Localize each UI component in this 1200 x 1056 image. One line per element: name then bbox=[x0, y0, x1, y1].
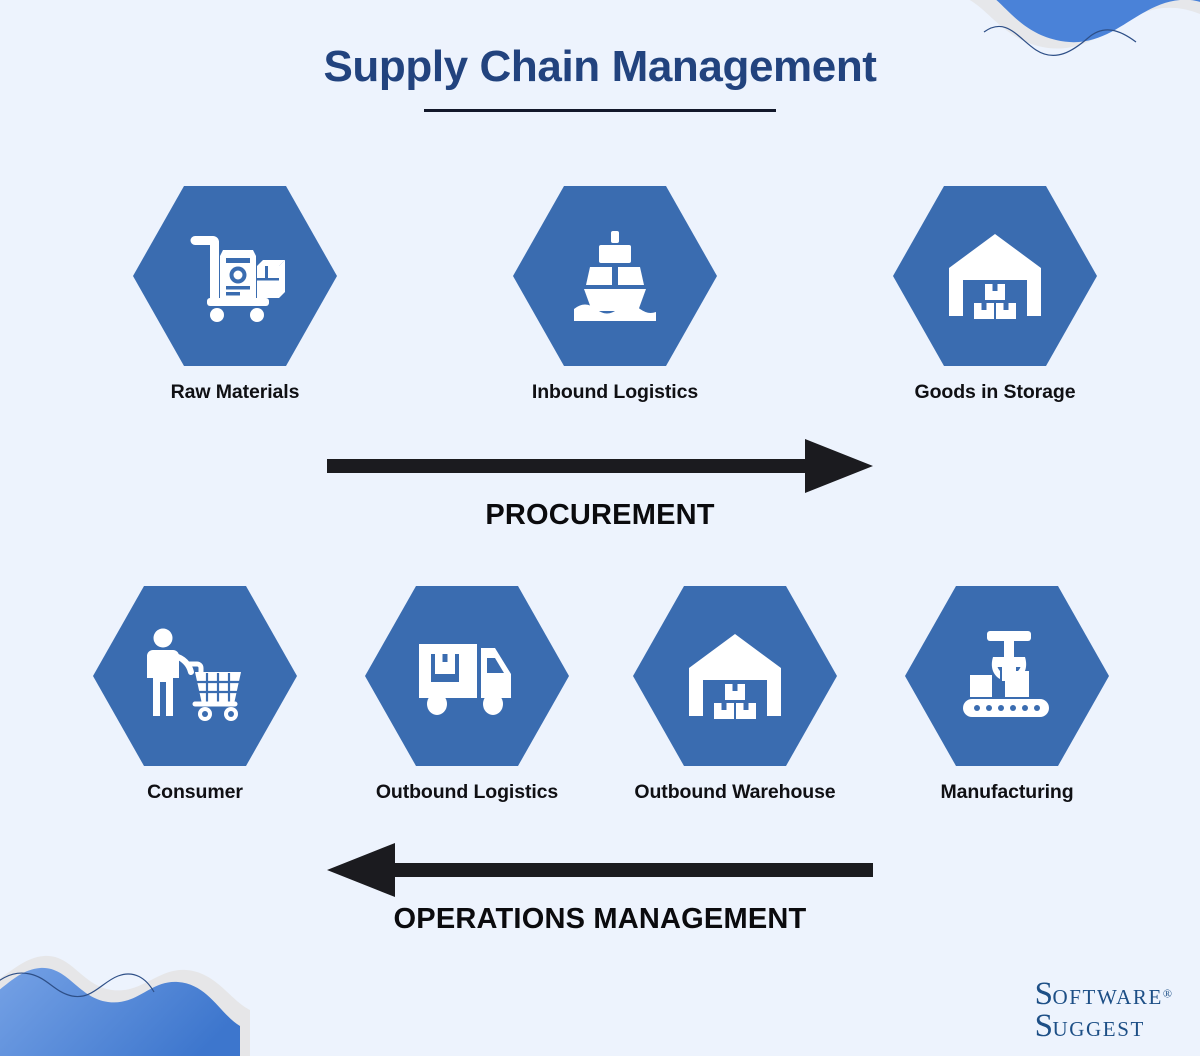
node-label: Consumer bbox=[93, 781, 297, 804]
infographic-canvas: Supply Chain Management bbox=[0, 0, 1200, 1056]
cargo-ship-icon bbox=[560, 221, 670, 331]
node-label: Outbound Logistics bbox=[365, 781, 569, 804]
logo-word-software: OFTWARE bbox=[1053, 985, 1163, 1009]
hexagon-goods-in-storage[interactable] bbox=[893, 186, 1097, 366]
node-label: Inbound Logistics bbox=[513, 381, 717, 404]
logo-line-2: SUGGEST bbox=[1035, 1011, 1172, 1042]
node-label: Manufacturing bbox=[905, 781, 1109, 804]
shopper-with-cart-icon bbox=[139, 620, 251, 732]
hexagon-outbound-logistics[interactable] bbox=[365, 586, 569, 766]
node-inbound-logistics[interactable]: Inbound Logistics bbox=[513, 186, 717, 404]
arrow-left-icon bbox=[327, 841, 873, 899]
header: Supply Chain Management bbox=[0, 42, 1200, 112]
node-outbound-logistics[interactable]: Outbound Logistics bbox=[365, 586, 569, 804]
logo-cap-s-2: S bbox=[1035, 1008, 1053, 1044]
registered-mark-icon: ® bbox=[1163, 987, 1172, 1001]
hexagon-raw-materials[interactable] bbox=[133, 186, 337, 366]
node-label: Goods in Storage bbox=[893, 381, 1097, 404]
node-label: Raw Materials bbox=[133, 381, 337, 404]
node-raw-materials[interactable]: Raw Materials bbox=[133, 186, 337, 404]
bottom-left-wave-decoration bbox=[0, 930, 290, 1056]
logo-line-1: SOFTWARE® bbox=[1035, 979, 1172, 1010]
hexagon-outbound-warehouse[interactable] bbox=[633, 586, 837, 766]
softwaresuggest-logo[interactable]: SOFTWARE® SUGGEST bbox=[1035, 979, 1172, 1042]
flow-label: OPERATIONS MANAGEMENT bbox=[0, 903, 1200, 936]
warehouse-icon bbox=[941, 222, 1049, 330]
flow-label: PROCUREMENT bbox=[0, 499, 1200, 532]
flow-operations-management: OPERATIONS MANAGEMENT bbox=[0, 841, 1200, 936]
hexagon-manufacturing[interactable] bbox=[905, 586, 1109, 766]
flow-procurement: PROCUREMENT bbox=[0, 437, 1200, 532]
page-title: Supply Chain Management bbox=[0, 42, 1200, 93]
node-consumer[interactable]: Consumer bbox=[93, 586, 297, 804]
title-underline-rule bbox=[424, 109, 776, 112]
hexagon-consumer[interactable] bbox=[93, 586, 297, 766]
warehouse-icon bbox=[681, 622, 789, 730]
node-goods-in-storage[interactable]: Goods in Storage bbox=[893, 186, 1097, 404]
arrow-right-icon bbox=[327, 437, 873, 495]
delivery-truck-icon bbox=[411, 624, 523, 728]
hexagon-inbound-logistics[interactable] bbox=[513, 186, 717, 366]
node-manufacturing[interactable]: Manufacturing bbox=[905, 586, 1109, 804]
robot-arm-conveyor-icon bbox=[953, 623, 1061, 729]
node-label: Outbound Warehouse bbox=[633, 781, 837, 804]
logo-word-suggest: UGGEST bbox=[1053, 1017, 1145, 1041]
node-outbound-warehouse[interactable]: Outbound Warehouse bbox=[633, 586, 837, 804]
hand-truck-icon bbox=[179, 220, 291, 332]
